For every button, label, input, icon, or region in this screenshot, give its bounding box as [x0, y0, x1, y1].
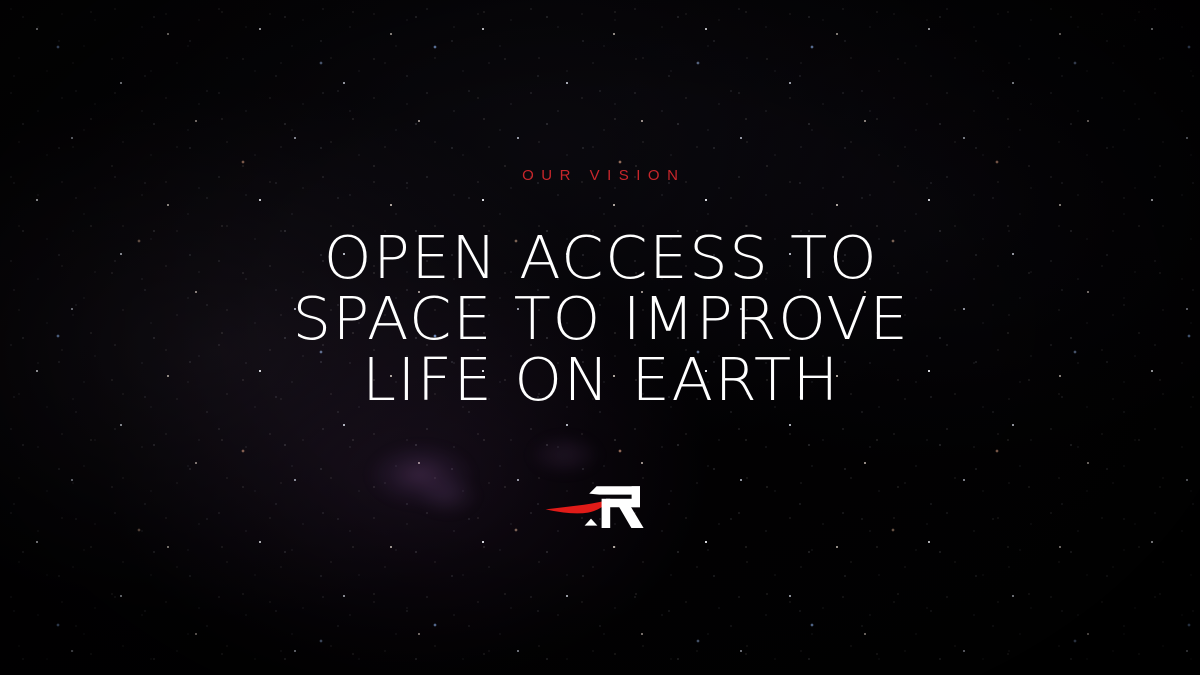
headline-line-3: LIFE ON EARTH	[291, 349, 909, 410]
brand-logo	[0, 474, 1200, 534]
page-title: OPEN ACCESS TO SPACE TO IMPROVE LIFE ON …	[291, 227, 909, 410]
headline-line-1: OPEN ACCESS TO	[291, 227, 909, 288]
headline-line-2: SPACE TO IMPROVE	[291, 288, 909, 349]
hero-banner: OUR VISION OPEN ACCESS TO SPACE TO IMPRO…	[0, 0, 1200, 675]
section-eyebrow: OUR VISION	[515, 168, 686, 183]
rocket-lab-logo-mark	[544, 476, 656, 532]
hero-content: OUR VISION OPEN ACCESS TO SPACE TO IMPRO…	[0, 0, 1200, 675]
logo-swoosh-icon	[546, 499, 611, 513]
